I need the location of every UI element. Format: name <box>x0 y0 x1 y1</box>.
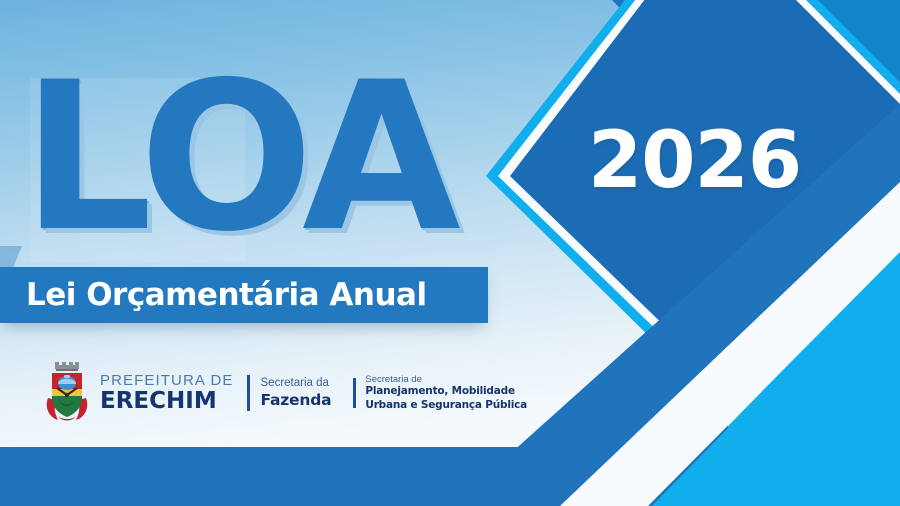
secretaria-planejamento: Secretaria de Planejamento, Mobilidade U… <box>365 374 527 411</box>
secretaria-planejamento-prefix: Secretaria de <box>365 374 527 385</box>
loa-2026-poster-banner: LOA Lei Orçamentária Anual 2026 <box>0 0 900 506</box>
erechim-coat-of-arms-icon <box>44 362 90 424</box>
logo-divider-2 <box>353 378 356 408</box>
subtitle-text: Lei Orçamentária Anual <box>26 277 427 313</box>
secretaria-planejamento-name-line2: Urbana e Segurança Pública <box>365 399 527 412</box>
secretaria-fazenda-prefix: Secretaria da <box>261 377 332 391</box>
loa-wordmark: LOA <box>22 56 522 271</box>
year-label: 2026 <box>588 116 838 206</box>
subtitle-band: Lei Orçamentária Anual <box>0 267 488 323</box>
secretaria-planejamento-name-line1: Planejamento, Mobilidade <box>365 385 527 398</box>
secretaria-fazenda: Secretaria da Fazenda <box>261 377 332 409</box>
institutional-logo-row: PREFEITURA DE ERECHIM Secretaria da Faze… <box>44 362 527 424</box>
secretaria-fazenda-name: Fazenda <box>261 391 332 409</box>
loa-acronym-text: LOA <box>22 56 455 261</box>
prefeitura-line2: ERECHIM <box>100 390 234 413</box>
prefeitura-line1: PREFEITURA DE <box>100 373 234 388</box>
prefeitura-wordmark: PREFEITURA DE ERECHIM <box>100 373 234 413</box>
logo-divider-1 <box>247 375 250 411</box>
